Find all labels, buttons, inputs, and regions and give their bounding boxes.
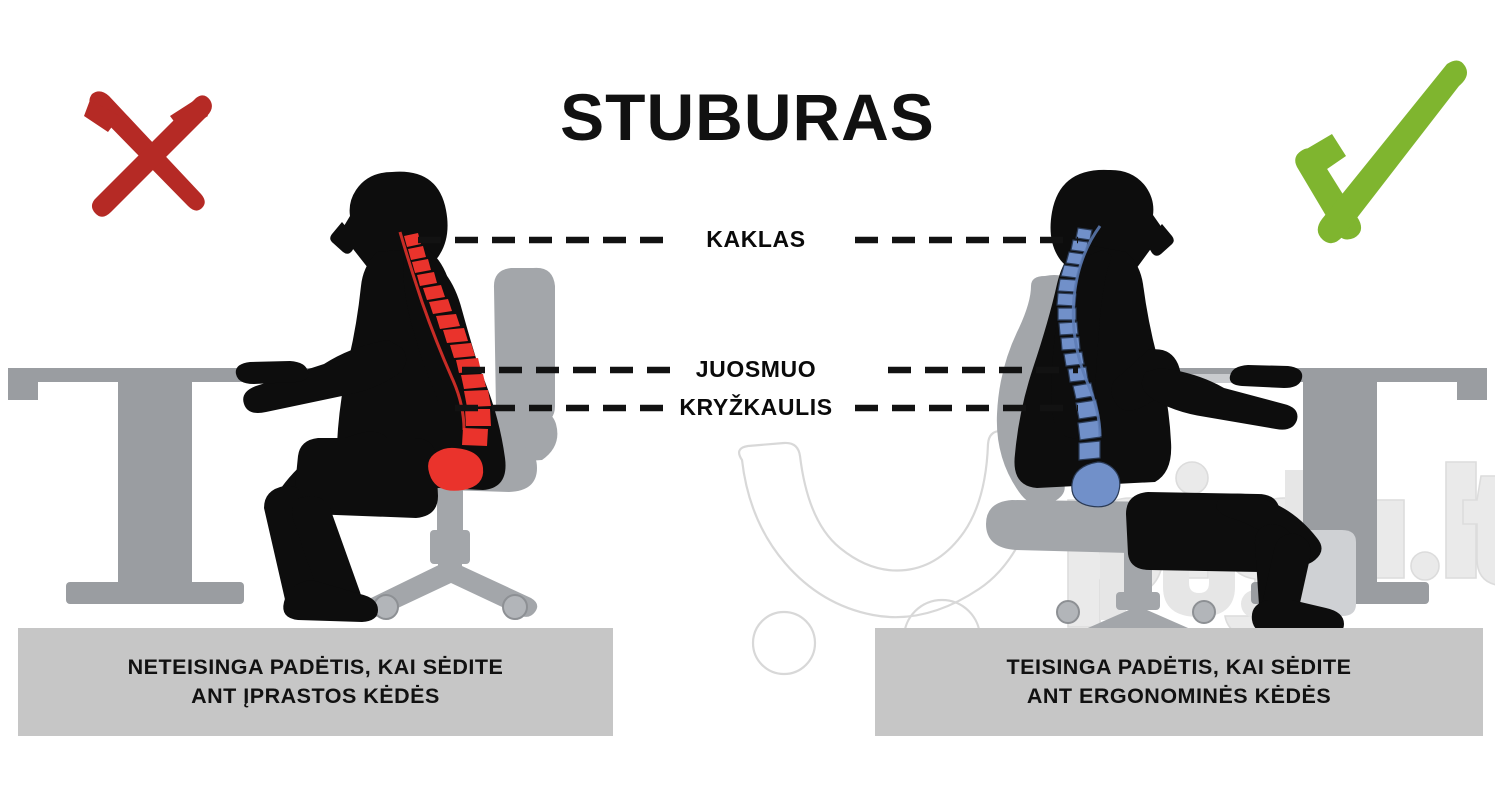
caption-incorrect-line1: NETEISINGA PADĖTIS, KAI SĖDITE [128, 653, 504, 682]
caption-bar-incorrect: NETEISINGA PADĖTIS, KAI SĖDITE ANT ĮPRAS… [18, 628, 613, 736]
page-title: STUBURAS [0, 84, 1495, 150]
spine-label-kryzkaulis: KRYŽKAULIS [556, 396, 956, 419]
caption-bar-correct: TEISINGA PADĖTIS, KAI SĖDITE ANT ERGONOM… [875, 628, 1483, 736]
caption-correct-line1: TEISINGA PADĖTIS, KAI SĖDITE [1007, 653, 1352, 682]
caption-incorrect-line2: ANT ĮPRASTOS KĖDĖS [128, 682, 504, 711]
caption-text-incorrect: NETEISINGA PADĖTIS, KAI SĖDITE ANT ĮPRAS… [128, 653, 504, 710]
caption-text-correct: TEISINGA PADĖTIS, KAI SĖDITE ANT ERGONOM… [1007, 653, 1352, 710]
infographic-canvas: STUBURAS KAKLAS JUOSMUO KRYŽKAULIS NETEI… [0, 0, 1495, 791]
spine-label-kaklas: KAKLAS [556, 228, 956, 251]
spine-label-juosmuo: JUOSMUO [556, 358, 956, 381]
caption-correct-line2: ANT ERGONOMINĖS KĖDĖS [1007, 682, 1352, 711]
